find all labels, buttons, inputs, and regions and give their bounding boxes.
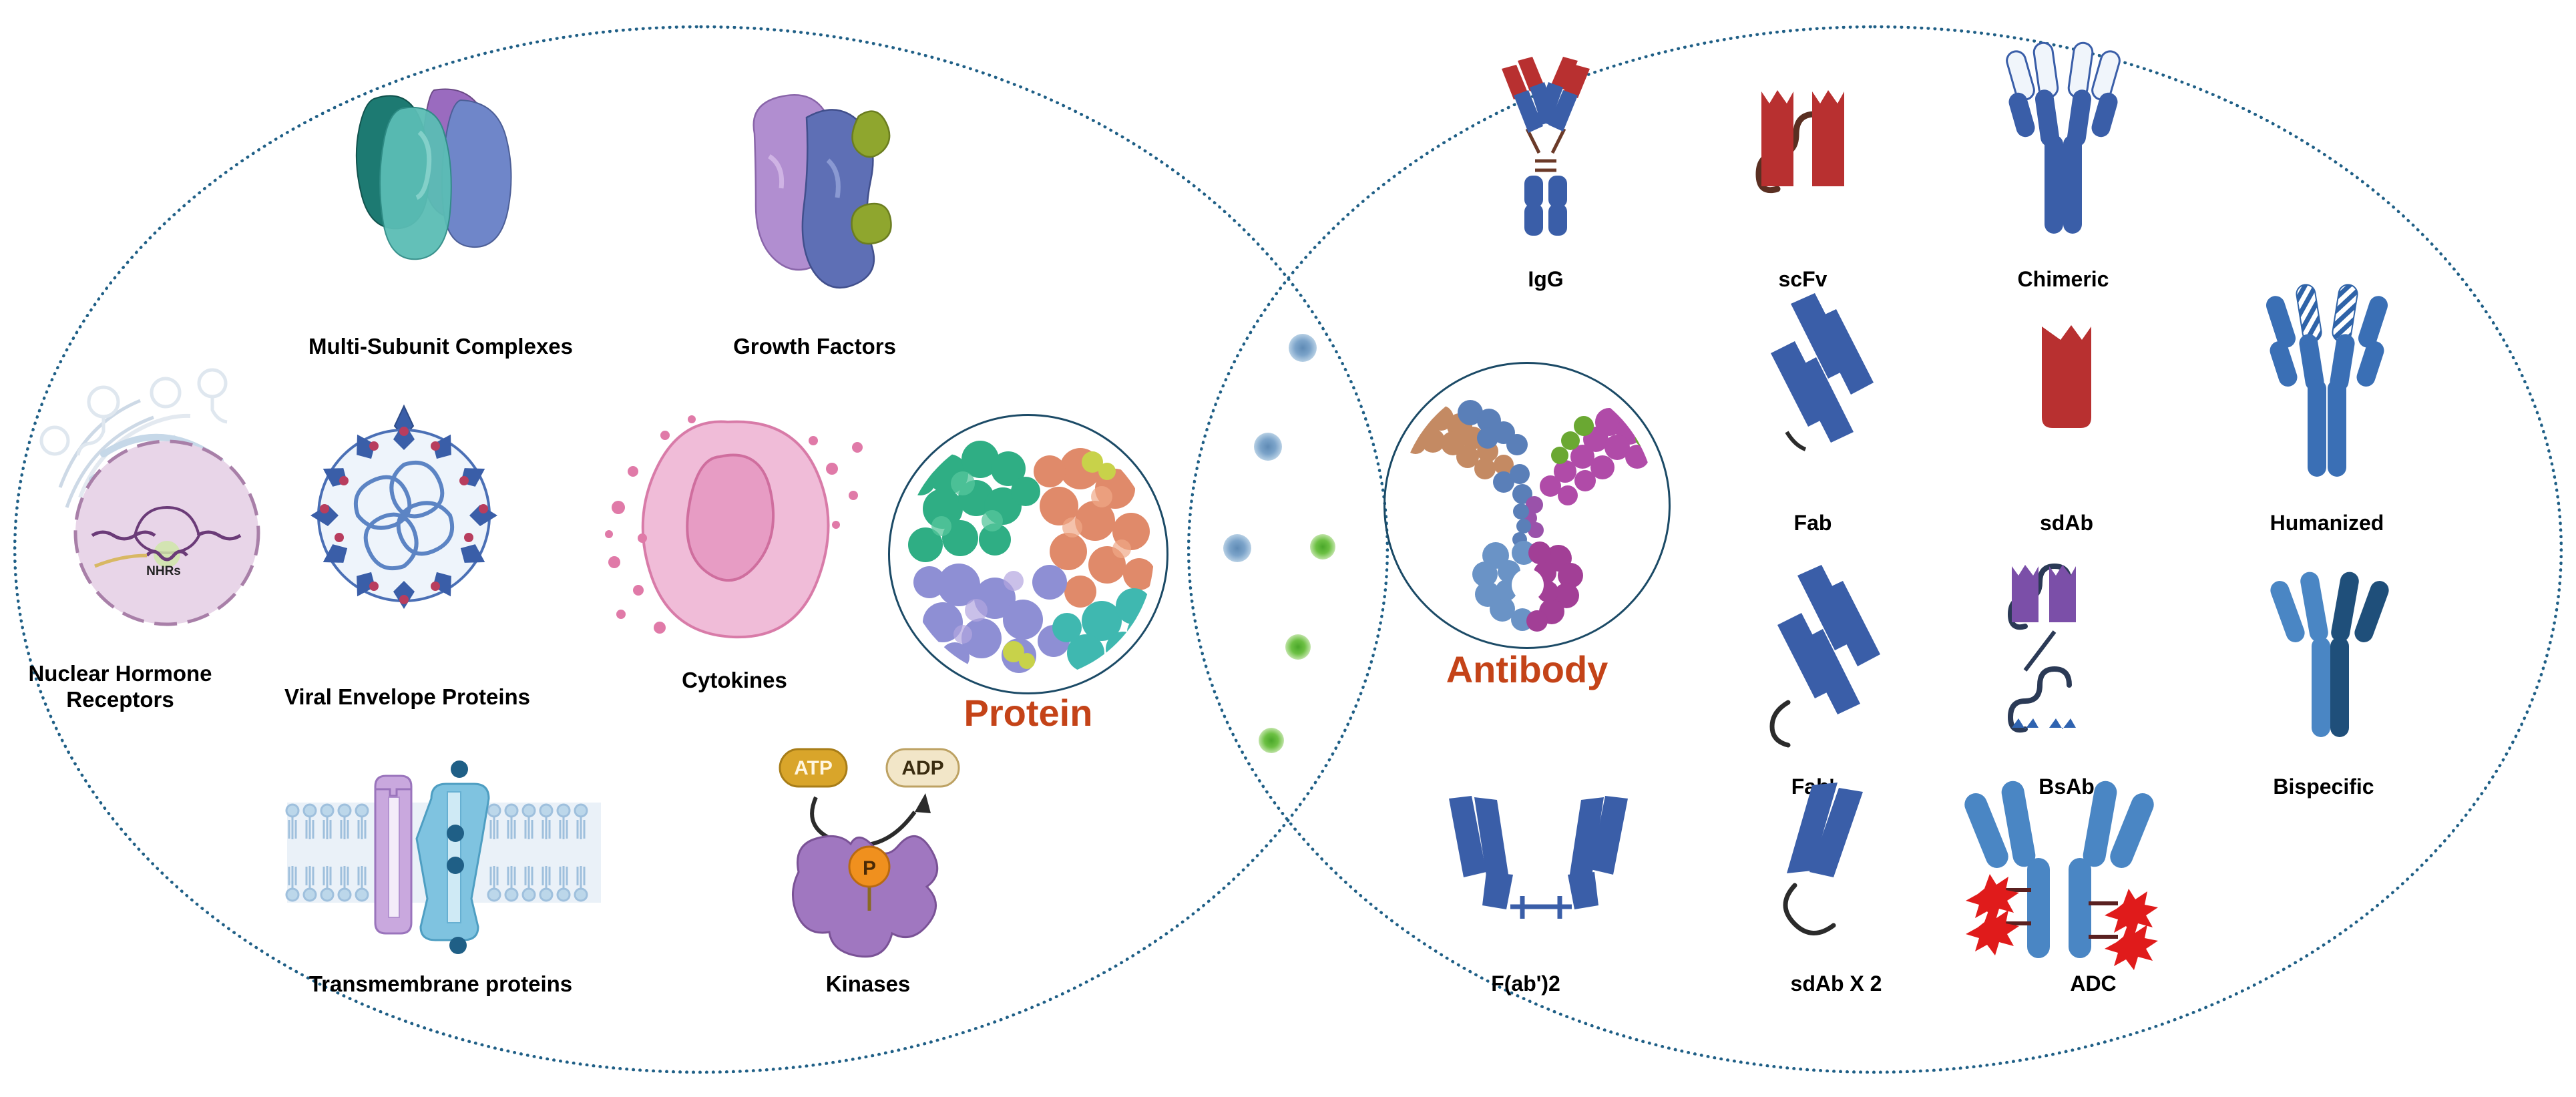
bispecific-illustration xyxy=(2264,568,2397,741)
membrane-channel-icon xyxy=(287,754,601,955)
caption-humanized: Humanized xyxy=(2230,511,2424,536)
antibody-group-label: Antibody xyxy=(1383,648,1671,691)
intersection-dot-green-1 xyxy=(1310,534,1335,560)
fab2-icon xyxy=(1429,795,1649,948)
protein-spacefill-icon xyxy=(901,427,1155,681)
igg-illustration xyxy=(1479,43,1613,237)
intersection-dot-blue-1 xyxy=(1289,334,1317,362)
phosphate-label: P xyxy=(863,857,876,879)
nhrs-inner-label: NHRs xyxy=(107,564,220,579)
fab-icon xyxy=(1756,284,1883,471)
growth-factors-illustration xyxy=(728,87,901,300)
caption-fab: Fab xyxy=(1736,511,1890,536)
bsab-icon xyxy=(1973,547,2153,768)
antibody-spacefill-icon xyxy=(1396,374,1659,637)
fab-prime-icon xyxy=(1756,561,1883,748)
sdab-icon xyxy=(2030,304,2103,437)
caption-cytokines: Cytokines xyxy=(614,668,855,694)
figure-canvas: Nuclear Hormone Receptors NHRs Multi-Sub… xyxy=(0,0,2576,1097)
sdab-illustration xyxy=(2030,304,2103,437)
multi-subunit-blob-icon xyxy=(334,80,534,300)
adc-icon xyxy=(1963,778,2243,958)
transmembrane-proteins-illustration xyxy=(287,754,601,955)
caption-growth-factors: Growth Factors xyxy=(681,334,948,360)
intersection-dot-green-3 xyxy=(1259,728,1284,753)
antibody-hero-illustration xyxy=(1396,374,1659,637)
nucleus-nhr-icon xyxy=(40,354,294,634)
sdab-x2-illustration xyxy=(1763,781,1896,948)
cytokine-cell-icon xyxy=(601,407,868,654)
caption-transmembrane-proteins: Transmembrane proteins xyxy=(267,971,614,998)
igg-icon xyxy=(1479,43,1613,237)
multi-subunit-complexes-illustration xyxy=(334,80,534,300)
protein-hero-illustration xyxy=(901,427,1155,681)
virus-particle-icon xyxy=(294,401,514,628)
caption-multi-subunit-complexes: Multi-Subunit Complexes xyxy=(267,334,614,360)
chimeric-illustration xyxy=(1996,40,2130,240)
nuclear-hormone-receptors-illustration xyxy=(40,354,294,634)
caption-chimeric: Chimeric xyxy=(1976,267,2150,292)
caption-viral-envelope-proteins: Viral Envelope Proteins xyxy=(267,684,548,710)
scfv-icon xyxy=(1743,50,1863,217)
fab-prime-illustration xyxy=(1756,561,1883,748)
caption-adc: ADC xyxy=(2016,971,2170,997)
viral-envelope-illustration xyxy=(294,401,514,628)
adp-label: ADP xyxy=(901,757,943,779)
fab-illustration xyxy=(1756,284,1883,471)
caption-sdab-x2: sdAb X 2 xyxy=(1736,971,1936,997)
humanized-illustration xyxy=(2257,280,2397,481)
chimeric-antibody-icon xyxy=(1996,40,2130,240)
caption-sdab: sdAb xyxy=(1986,511,2147,536)
intersection-dot-blue-3 xyxy=(1223,534,1251,562)
caption-igg: IgG xyxy=(1466,267,1626,292)
caption-bispecific: Bispecific xyxy=(2223,775,2424,800)
scfv-illustration xyxy=(1743,50,1863,217)
humanized-antibody-icon xyxy=(2257,280,2397,481)
bispecific-antibody-icon xyxy=(2264,568,2397,741)
caption-nuclear-hormone-receptors: Nuclear Hormone Receptors xyxy=(0,661,240,713)
caption-kinases: Kinases xyxy=(741,971,995,998)
adc-illustration xyxy=(1963,778,2243,958)
atp-label: ATP xyxy=(794,757,833,779)
fab2-illustration xyxy=(1429,795,1649,948)
cytokines-illustration xyxy=(601,407,868,654)
kinase-blob-icon: ATP ADP P xyxy=(755,741,975,961)
kinases-illustration: ATP ADP P xyxy=(755,741,975,961)
growth-factor-blob-icon xyxy=(728,87,901,300)
bsab-illustration xyxy=(1973,547,2153,768)
protein-group-label: Protein xyxy=(888,691,1168,734)
intersection-dot-blue-2 xyxy=(1254,433,1282,461)
intersection-dot-green-2 xyxy=(1285,634,1311,660)
caption-fab2: F(ab')2 xyxy=(1436,971,1616,997)
sdab-x2-icon xyxy=(1763,781,1896,948)
